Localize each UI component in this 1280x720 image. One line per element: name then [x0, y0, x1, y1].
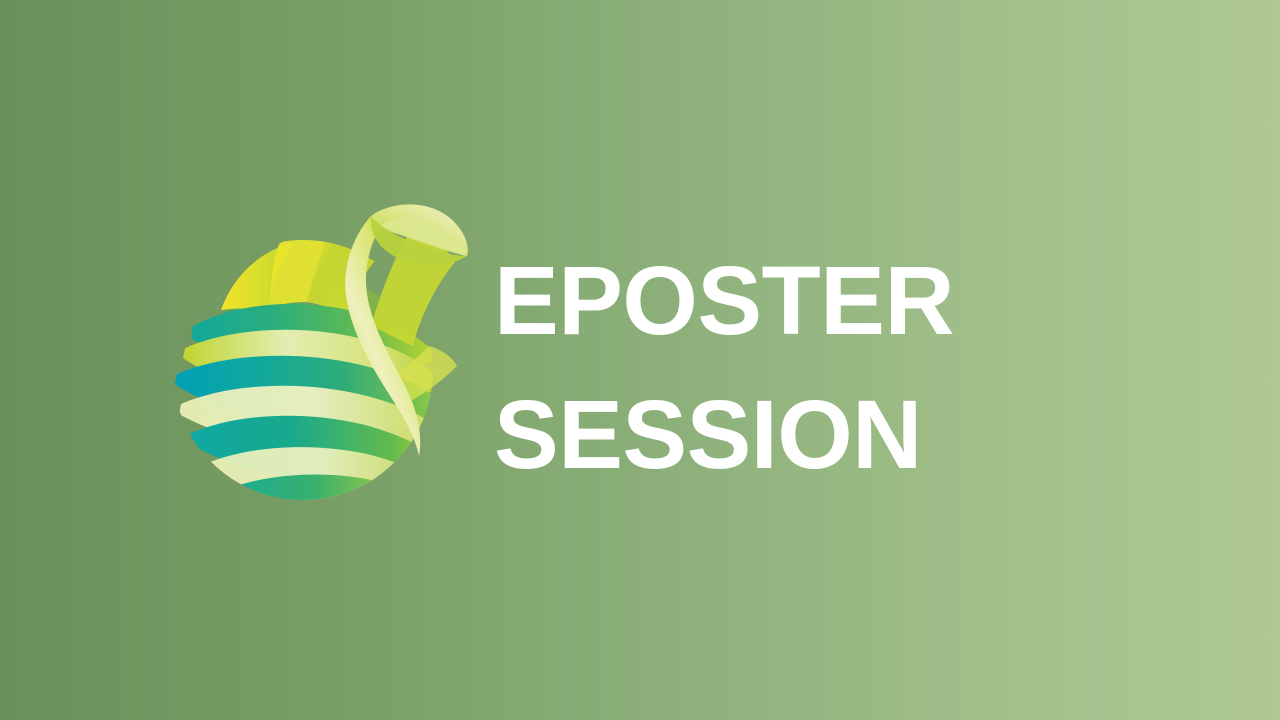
title-block: EPOSTER SESSION	[494, 234, 1014, 502]
page-title-line-1: EPOSTER	[494, 234, 1014, 368]
globe-swan-leaf-logo	[175, 198, 480, 518]
page-title-line-2: SESSION	[494, 368, 1014, 502]
slide-canvas: EPOSTER SESSION	[0, 0, 1280, 720]
